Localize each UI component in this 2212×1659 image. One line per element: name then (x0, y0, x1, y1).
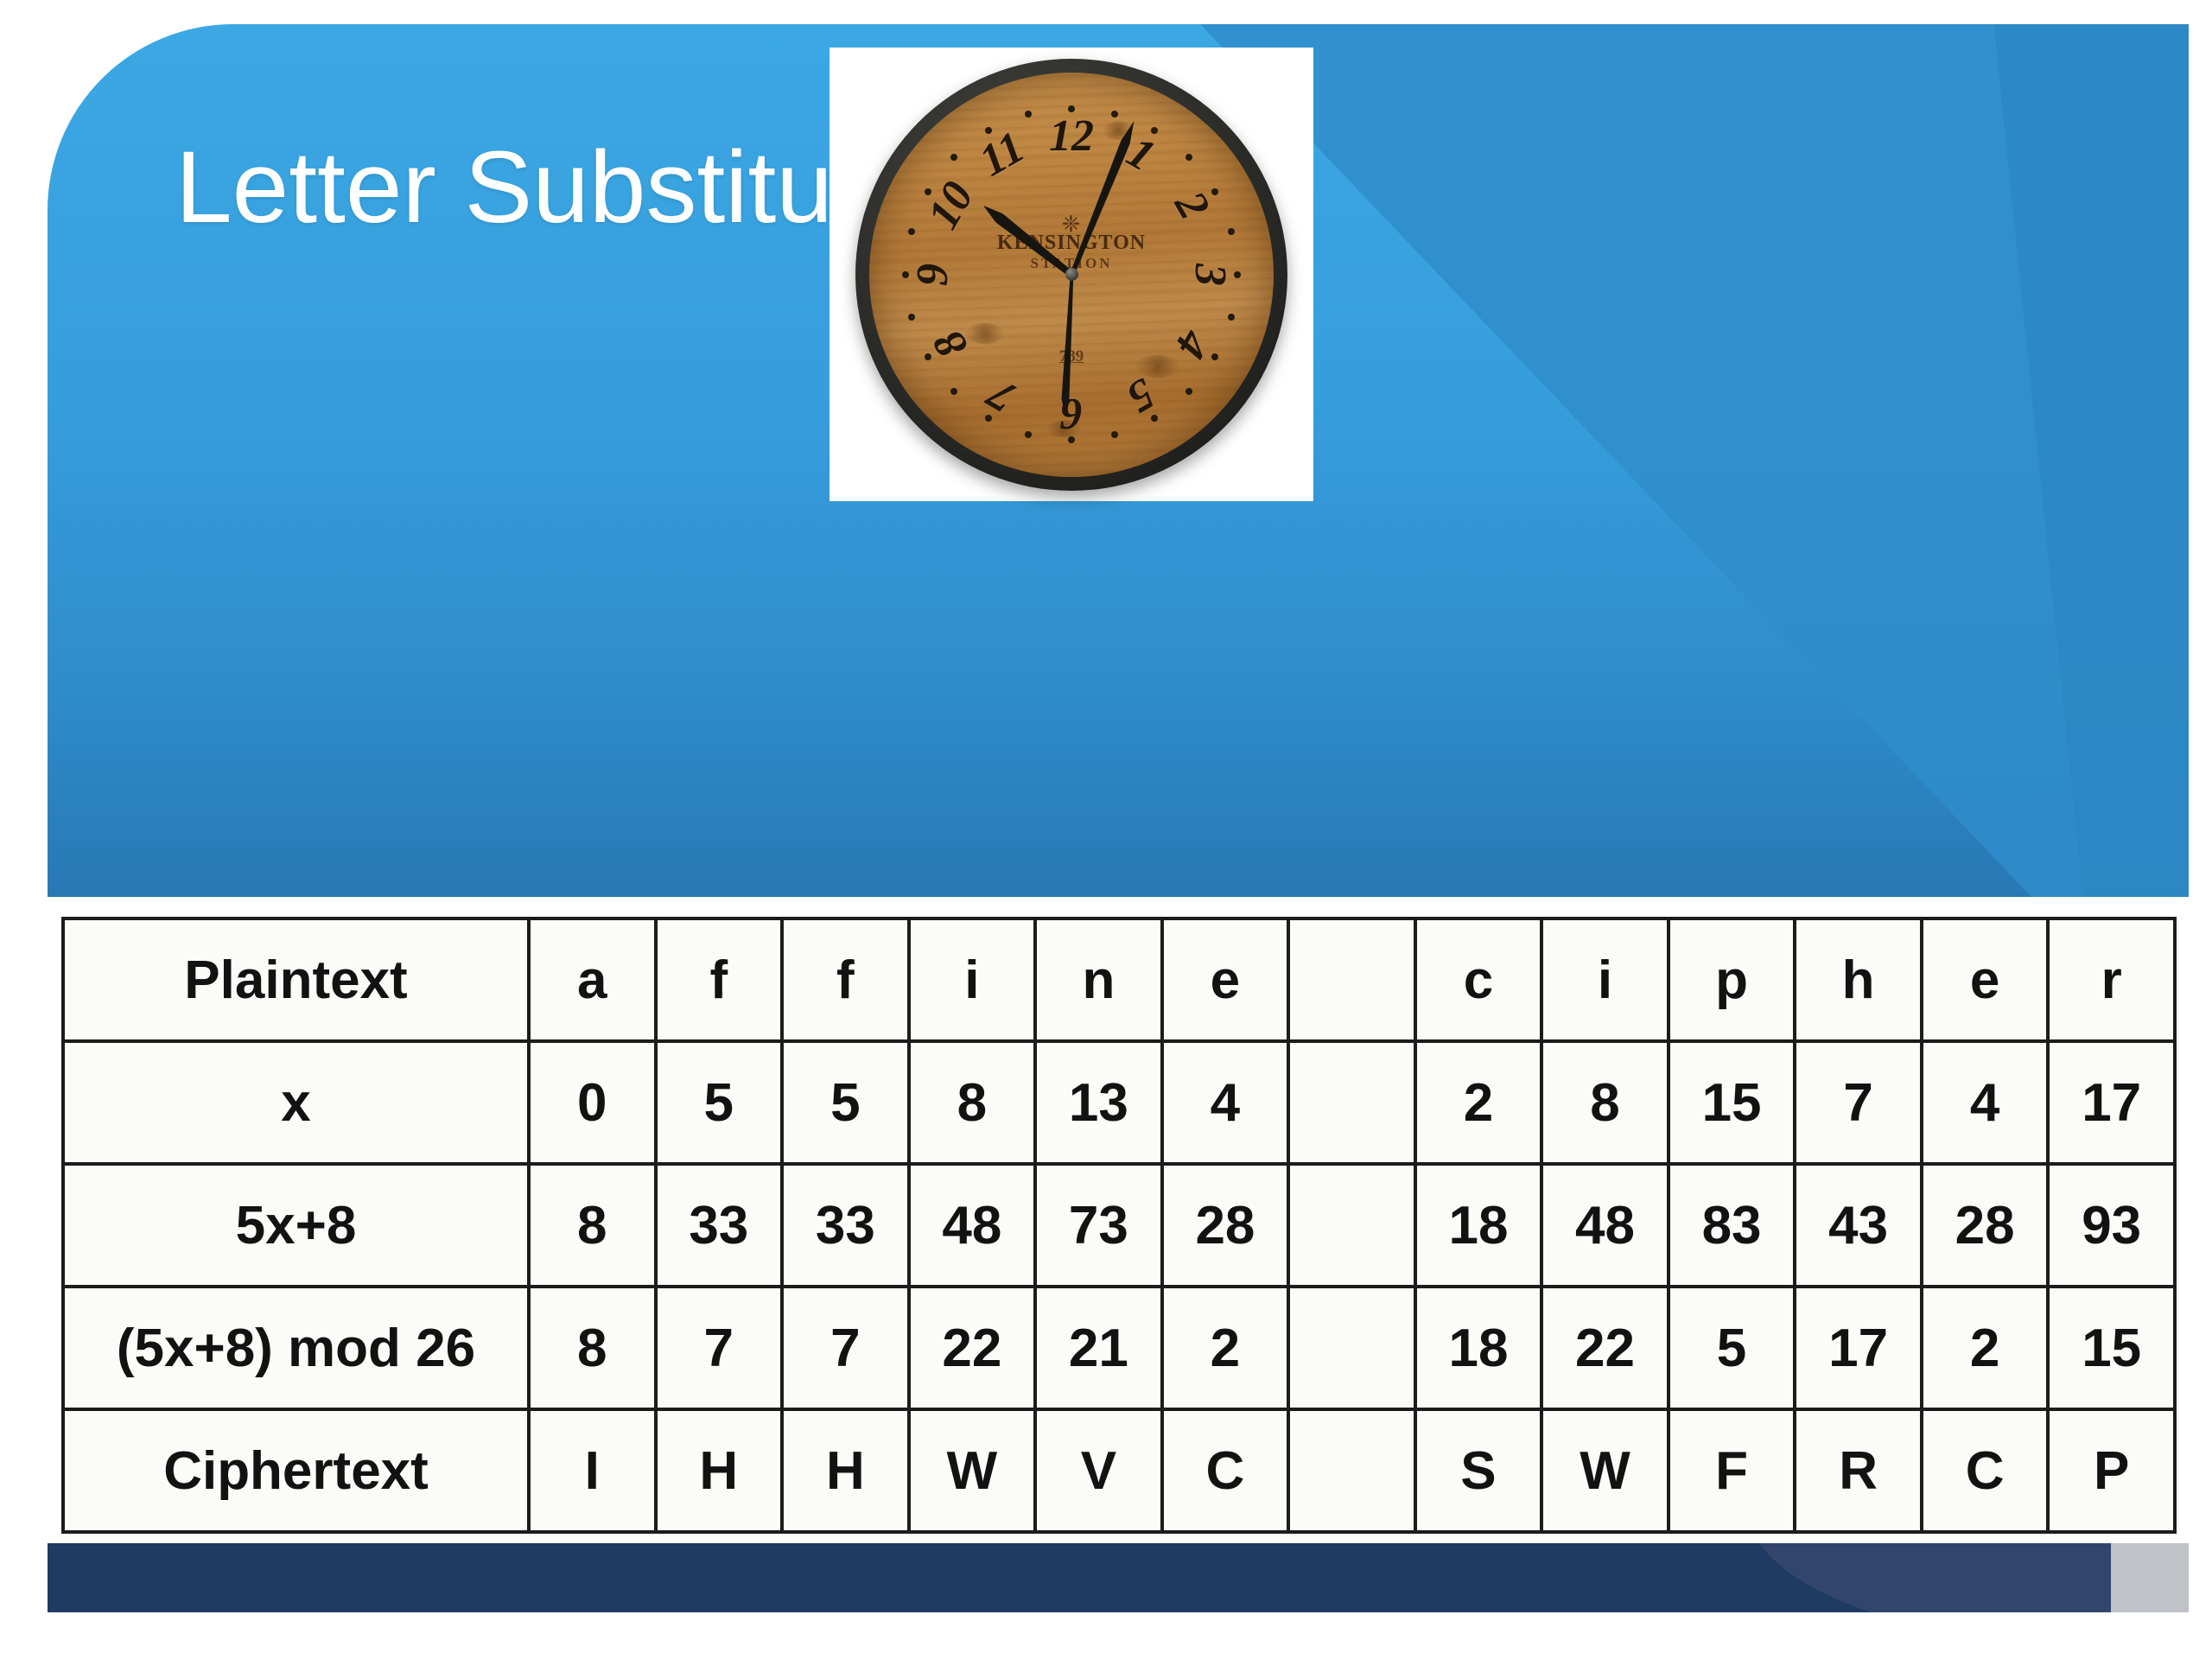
table-row: Ciphertext I H H W V C S W F R C P (63, 1409, 2175, 1532)
cell-x-5: 4 (1162, 1041, 1289, 1164)
clock-minute-dot-icon (1211, 353, 1218, 360)
clock-minute-dot-icon (1234, 271, 1241, 278)
clock-minute-dot-icon (1228, 228, 1235, 235)
cell-ciphertext-8: F (1669, 1409, 1796, 1532)
cell-ciphertext-11: P (2048, 1409, 2175, 1532)
row-label-mod26: (5x+8) mod 26 (63, 1287, 529, 1409)
clock-minute-dot-icon (1151, 415, 1158, 422)
cell-5x8-3: 48 (909, 1164, 1036, 1287)
clock-minute-dot-icon (925, 353, 931, 360)
row-label-5x-plus-8: 5x+8 (63, 1164, 529, 1287)
cell-x-3: 8 (909, 1041, 1036, 1164)
clock-minute-dot-icon (902, 271, 909, 278)
cell-x-7: 8 (1541, 1041, 1669, 1164)
cell-ciphertext-0: I (529, 1409, 656, 1532)
clock-minute-dot-icon (1068, 105, 1075, 112)
clock-minute-dot-icon (908, 228, 915, 235)
cell-5x8-1: 33 (656, 1164, 783, 1287)
clock-minute-dot-icon (1185, 388, 1192, 395)
cell-plaintext-7: i (1541, 918, 1669, 1041)
letter-substitution-table: Plaintext a f f i n e c i p h e r x (56, 912, 2182, 1539)
row-label-ciphertext: Ciphertext (63, 1409, 529, 1532)
cell-ciphertext-1: H (656, 1409, 783, 1532)
cell-plaintext-2: f (782, 918, 909, 1041)
clock-face: 12 1 2 3 4 5 6 7 8 9 10 11 (869, 73, 1274, 477)
cell-mod26-2: 7 (782, 1287, 909, 1409)
cell-5x8-9: 43 (1795, 1164, 1922, 1287)
clock-sub-mark: 789 (1059, 347, 1084, 366)
cell-plaintext-gap (1288, 918, 1415, 1041)
table-row: x 0 5 5 8 13 4 2 8 15 7 4 17 (63, 1041, 2175, 1164)
cell-mod26-3: 22 (909, 1287, 1036, 1409)
cell-5x8-gap (1288, 1164, 1415, 1287)
cell-5x8-5: 28 (1162, 1164, 1289, 1287)
cell-x-1: 5 (656, 1041, 783, 1164)
clock-minute-dot-icon (985, 415, 992, 422)
cell-x-6: 2 (1415, 1041, 1542, 1164)
cell-mod26-gap (1288, 1287, 1415, 1409)
cell-5x8-11: 93 (2048, 1164, 2175, 1287)
table-row: (5x+8) mod 26 8 7 7 22 21 2 18 22 5 17 2… (63, 1287, 2175, 1409)
clock-minute-dot-icon (1068, 436, 1075, 443)
slide-footer-bar (48, 1543, 2189, 1612)
wall-clock-graphic: 12 1 2 3 4 5 6 7 8 9 10 11 (855, 59, 1287, 491)
cell-plaintext-10: e (1922, 918, 2049, 1041)
clock-minute-dot-icon (908, 314, 915, 321)
cell-mod26-5: 2 (1162, 1287, 1289, 1409)
cell-x-11: 17 (2048, 1041, 2175, 1164)
row-label-x: x (63, 1041, 529, 1164)
table-row: Plaintext a f f i n e c i p h e r (63, 918, 2175, 1041)
cell-plaintext-8: p (1669, 918, 1796, 1041)
cell-mod26-9: 17 (1795, 1287, 1922, 1409)
clock-minute-dot-icon (1211, 188, 1218, 195)
cell-x-9: 7 (1795, 1041, 1922, 1164)
clock-center-cap (1065, 268, 1078, 281)
wood-knot-icon (1136, 355, 1179, 378)
cell-ciphertext-10: C (1922, 1409, 2049, 1532)
clock-minute-dot-icon (1151, 127, 1158, 134)
clock-brand-mark: ❈ KENSINGTON STATION (997, 218, 1146, 272)
cell-plaintext-9: h (1795, 918, 1922, 1041)
clock-minute-dot-icon (1228, 314, 1235, 321)
cell-5x8-2: 33 (782, 1164, 909, 1287)
clock-minute-dot-icon (950, 154, 957, 161)
cell-ciphertext-gap (1288, 1409, 1415, 1532)
cell-5x8-4: 73 (1035, 1164, 1162, 1287)
cell-x-8: 15 (1669, 1041, 1796, 1164)
cell-mod26-4: 21 (1035, 1287, 1162, 1409)
cell-mod26-6: 18 (1415, 1287, 1542, 1409)
cell-plaintext-5: e (1162, 918, 1289, 1041)
cell-5x8-0: 8 (529, 1164, 656, 1287)
cell-plaintext-11: r (2048, 918, 2175, 1041)
clock-minute-dot-icon (925, 188, 931, 195)
cell-ciphertext-7: W (1541, 1409, 1669, 1532)
cell-ciphertext-9: R (1795, 1409, 1922, 1532)
cell-plaintext-0: a (529, 918, 656, 1041)
cell-x-10: 4 (1922, 1041, 2049, 1164)
cell-mod26-10: 2 (1922, 1287, 2049, 1409)
row-label-plaintext: Plaintext (63, 918, 529, 1041)
clock-minute-dot-icon (1025, 111, 1032, 118)
clock-minute-dot-icon (1185, 154, 1192, 161)
cell-plaintext-4: n (1035, 918, 1162, 1041)
cell-mod26-1: 7 (656, 1287, 783, 1409)
cell-x-gap (1288, 1041, 1415, 1164)
clock-minute-dot-icon (1111, 111, 1118, 118)
clock-minute-dot-icon (1025, 431, 1032, 438)
cell-5x8-10: 28 (1922, 1164, 2049, 1287)
cell-5x8-7: 48 (1541, 1164, 1669, 1287)
clock-minute-dot-icon (950, 388, 957, 395)
cell-5x8-8: 83 (1669, 1164, 1796, 1287)
cell-plaintext-1: f (656, 918, 783, 1041)
cell-mod26-7: 22 (1541, 1287, 1669, 1409)
cell-mod26-0: 8 (529, 1287, 656, 1409)
cell-5x8-6: 18 (1415, 1164, 1542, 1287)
cell-ciphertext-4: V (1035, 1409, 1162, 1532)
footer-curve-inner (1748, 1543, 2111, 1612)
cell-x-4: 13 (1035, 1041, 1162, 1164)
presentation-slide: Letter Substitution 12 1 2 3 4 5 6 7 (48, 24, 2189, 1612)
clock-minute-dot-icon (1111, 431, 1118, 438)
cell-plaintext-3: i (909, 918, 1036, 1041)
cell-ciphertext-2: H (782, 1409, 909, 1532)
cell-mod26-8: 5 (1669, 1287, 1796, 1409)
clock-image: 12 1 2 3 4 5 6 7 8 9 10 11 (829, 48, 1313, 501)
cell-x-0: 0 (529, 1041, 656, 1164)
cell-mod26-11: 15 (2048, 1287, 2175, 1409)
cell-ciphertext-5: C (1162, 1409, 1289, 1532)
cell-ciphertext-6: S (1415, 1409, 1542, 1532)
cell-x-2: 5 (782, 1041, 909, 1164)
table-row: 5x+8 8 33 33 48 73 28 18 48 83 43 28 93 (63, 1164, 2175, 1287)
clock-minute-dot-icon (985, 127, 992, 134)
cell-plaintext-6: c (1415, 918, 1542, 1041)
cell-ciphertext-3: W (909, 1409, 1036, 1532)
